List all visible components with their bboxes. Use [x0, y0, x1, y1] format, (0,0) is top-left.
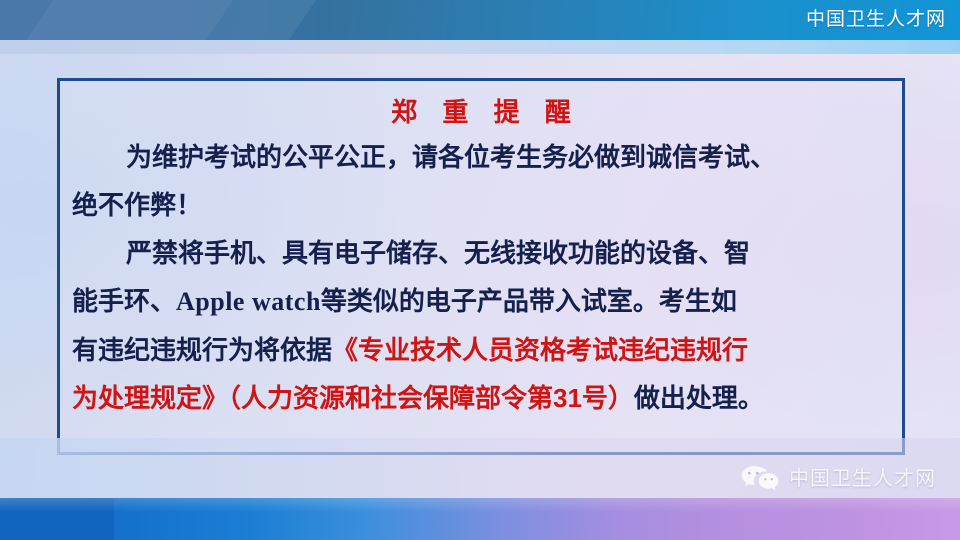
notice-text: Apple watch	[176, 287, 321, 316]
notice-text: 等类似的电子产品带入试室。考生如	[321, 286, 737, 316]
notice-text-emphasis: 《专业技术人员资格考试违纪违规行	[332, 335, 748, 365]
notice-title: 郑 重 提 醒	[60, 81, 902, 129]
notice-text: 有违纪违规行为将依据	[72, 335, 332, 365]
wechat-icon	[740, 464, 780, 494]
notice-text: 严禁将手机、具有电子储存、无线接收功能的设备、智	[126, 238, 750, 268]
header-site-name: 中国卫生人才网	[806, 6, 946, 34]
notice-text: 做出处理。	[634, 383, 764, 413]
notice-text: 绝不作弊！	[72, 190, 202, 220]
watermark: 中国卫生人才网	[740, 464, 936, 494]
slide-canvas: 中国卫生人才网 郑 重 提 醒 为维护考试的公平公正，请各位考生务必做到诚信考试…	[0, 0, 960, 540]
header-underglow	[0, 40, 960, 54]
notice-text: 能手环、	[72, 286, 176, 316]
notice-body: 为维护考试的公平公正，请各位考生务必做到诚信考试、绝不作弊！严禁将手机、具有电子…	[60, 129, 902, 422]
top-header-band: 中国卫生人才网	[0, 0, 960, 40]
notice-text: 为维护考试的公平公正，请各位考生务必做到诚信考试、	[126, 142, 776, 172]
watermark-label: 中国卫生人才网	[789, 466, 936, 492]
notice-box: 郑 重 提 醒 为维护考试的公平公正，请各位考生务必做到诚信考试、绝不作弊！严禁…	[57, 78, 905, 455]
notice-line: 有违纪违规行为将依据《专业技术人员资格考试违纪违规行	[72, 326, 890, 374]
notice-text-emphasis: 为处理规定》（人力资源和社会保障部令第31号）	[72, 383, 634, 413]
notice-line: 绝不作弊！	[72, 181, 890, 229]
bottom-band-sheen	[0, 498, 960, 512]
notice-line: 能手环、Apple watch等类似的电子产品带入试室。考生如	[72, 277, 890, 326]
notice-line: 为处理规定》（人力资源和社会保障部令第31号）做出处理。	[72, 374, 890, 422]
notice-line: 严禁将手机、具有电子储存、无线接收功能的设备、智	[72, 229, 890, 277]
notice-line: 为维护考试的公平公正，请各位考生务必做到诚信考试、	[72, 133, 890, 181]
